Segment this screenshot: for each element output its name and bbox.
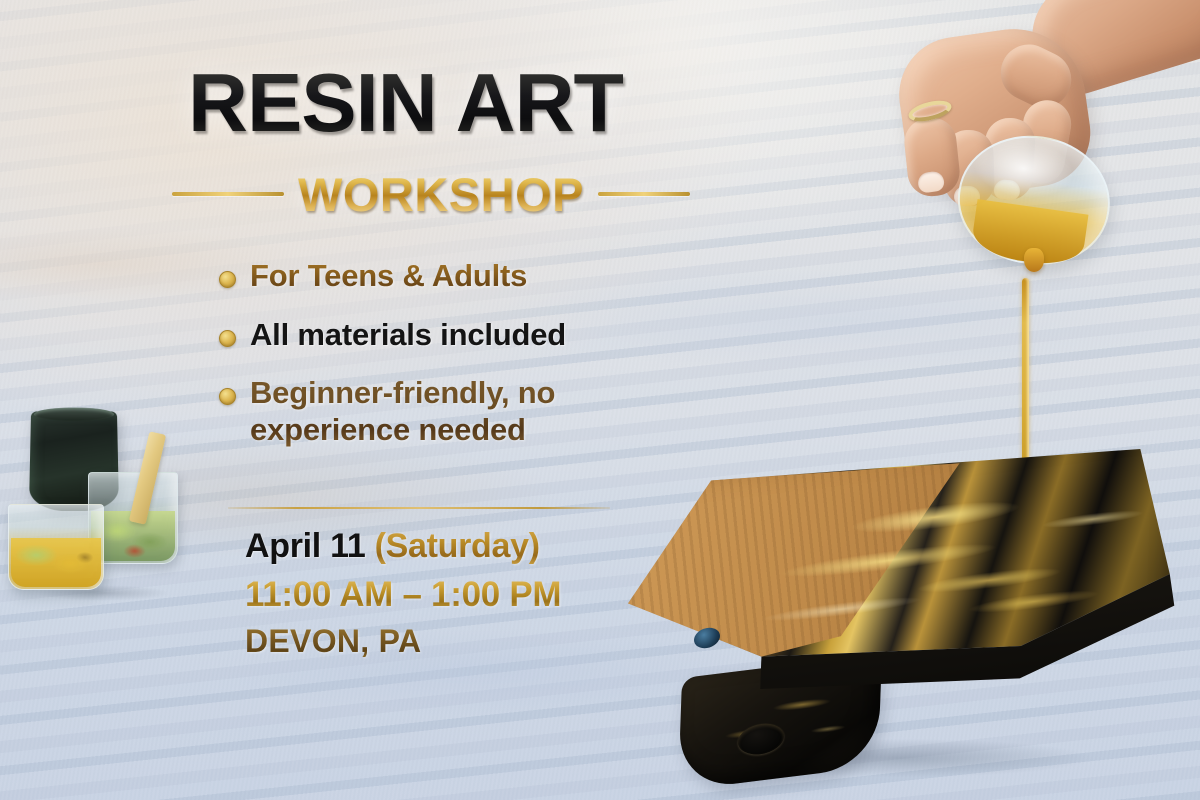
- page-subtitle: WORKSHOP: [298, 167, 584, 222]
- event-details: April 11 (Saturday) 11:00 AM – 1:00 PM D…: [245, 527, 675, 660]
- bullet-dot-icon: [219, 388, 236, 405]
- hand-pouring-resin: [880, 0, 1200, 290]
- bullet-dot-icon: [219, 271, 236, 288]
- page-title: RESIN ART: [188, 62, 623, 143]
- subtitle-rule-left: [172, 192, 284, 196]
- bullet-text-wrapper: Beginner-friendly, no experience needed: [250, 375, 555, 448]
- bullet-text-line-1: Beginner-friendly, no: [250, 375, 555, 410]
- poster-text-content: RESIN ART WORKSHOP For Teens & Adults Al…: [0, 0, 700, 800]
- list-item: For Teens & Adults: [219, 258, 649, 295]
- list-item: Beginner-friendly, no experience needed: [219, 375, 649, 448]
- event-time: 11:00 AM – 1:00 PM: [245, 575, 675, 615]
- details-divider: [228, 507, 610, 509]
- bullet-text-line-2: experience needed: [250, 412, 526, 447]
- event-weekday: (Saturday): [375, 527, 540, 565]
- bullet-text: All materials included: [250, 317, 566, 354]
- resin-art-workshop-poster: RESIN ART WORKSHOP For Teens & Adults Al…: [0, 0, 1200, 800]
- event-date: April 11: [245, 527, 365, 565]
- subtitle-row: WORKSHOP: [172, 169, 688, 219]
- event-location: DEVON, PA: [245, 623, 675, 660]
- feature-bullet-list: For Teens & Adults All materials include…: [219, 258, 649, 470]
- subtitle-rule-right: [598, 192, 690, 196]
- bullet-dot-icon: [219, 330, 236, 347]
- bullet-text: For Teens & Adults: [250, 258, 527, 295]
- event-date-line: April 11 (Saturday): [245, 527, 675, 566]
- resin-drip-bead: [1024, 248, 1044, 272]
- list-item: All materials included: [219, 317, 649, 354]
